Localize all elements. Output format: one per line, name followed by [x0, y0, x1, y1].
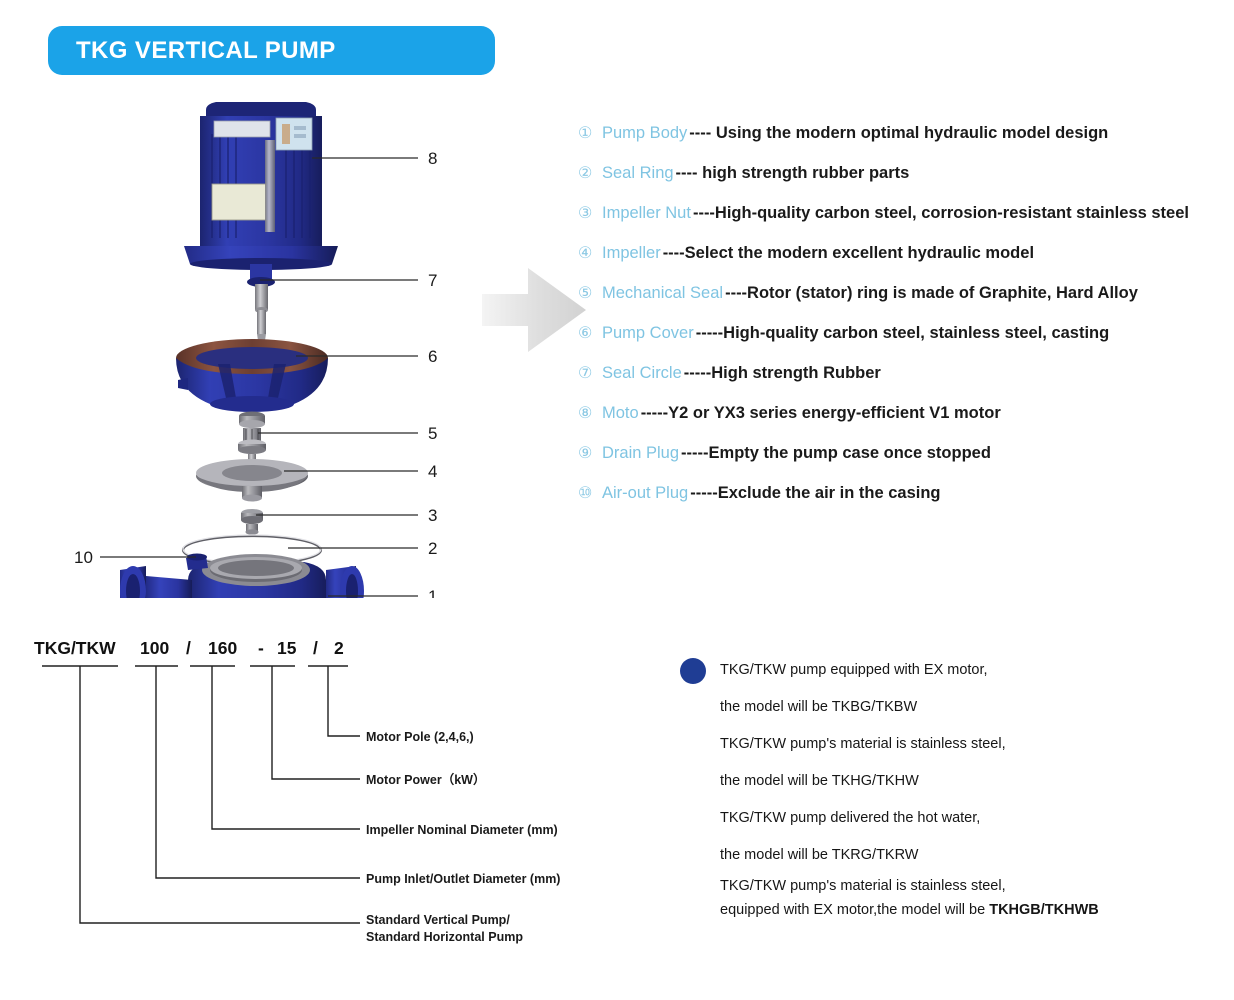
- legend-number-icon: ⑨: [578, 446, 602, 462]
- callout-4: 4: [428, 462, 437, 481]
- transition-arrow: [482, 258, 588, 362]
- note-text: equipped with EX motor,the model will be: [720, 902, 989, 918]
- legend-item-drain-plug: ⑨ Drain Plug -----Empty the pump case on…: [578, 444, 1228, 484]
- legend-part-name: Mechanical Seal: [602, 284, 723, 303]
- legend-part-name: Impeller Nut: [602, 204, 691, 223]
- legend-item-air-out-plug: ⑩ Air-out Plug -----Exclude the air in t…: [578, 484, 1228, 524]
- legend-number-icon: ④: [578, 246, 602, 262]
- legend-number-icon: ⑧: [578, 406, 602, 422]
- code-series: TKG/TKW: [34, 638, 116, 658]
- legend-number-icon: ⑥: [578, 326, 602, 342]
- part-motor: [184, 102, 338, 270]
- part-pump-cover: [176, 339, 328, 412]
- legend-number-icon: ①: [578, 126, 602, 142]
- code-inlet-size: 100: [140, 638, 169, 658]
- legend-number-icon: ②: [578, 166, 602, 182]
- legend-number-icon: ⑤: [578, 286, 602, 302]
- note-line: TKG/TKW pump's material is stainless ste…: [720, 726, 1220, 763]
- legend-item-seal-ring: ② Seal Ring ---- high strength rubber pa…: [578, 164, 1228, 204]
- note-line: TKG/TKW pump delivered the hot water,: [720, 800, 1220, 837]
- bullet-dot-icon: [680, 658, 706, 684]
- part-air-out-plug: [186, 554, 208, 571]
- legend-part-name: Moto: [602, 404, 639, 423]
- legend-item-moto: ⑧ Moto -----Y2 or YX3 series energy-effi…: [578, 404, 1228, 444]
- model-code: TKG/TKW 100 / 160 - 15 / 2: [34, 638, 344, 658]
- legend-part-desc: -----High strength Rubber: [684, 364, 881, 383]
- legend-item-pump-body: ① Pump Body ---- Using the modern optima…: [578, 124, 1228, 164]
- note-line-with-model: equipped with EX motor,the model will be…: [720, 898, 1220, 922]
- part-shaft-seal-circle: [247, 264, 275, 350]
- page-title: TKG VERTICAL PUMP: [76, 37, 336, 65]
- label-motor-pole: Motor Pole (2,4,6,): [366, 730, 474, 744]
- part-impeller: [196, 454, 308, 502]
- label-inlet-outlet: Pump Inlet/Outlet Diameter (mm): [366, 872, 560, 886]
- legend-part-desc: ----High-quality carbon steel, corrosion…: [693, 204, 1189, 223]
- legend-part-desc: ----Select the modern excellent hydrauli…: [663, 244, 1034, 263]
- page-title-banner: TKG VERTICAL PUMP: [48, 26, 495, 75]
- legend-part-desc: ---- high strength rubber parts: [676, 164, 910, 183]
- legend-item-pump-cover: ⑥ Pump Cover -----High-quality carbon st…: [578, 324, 1228, 364]
- model-variant-notes: TKG/TKW pump equipped with EX motor, the…: [680, 652, 1220, 922]
- legend-item-impeller: ④ Impeller ----Select the modern excelle…: [578, 244, 1228, 284]
- label-pump-type-line2: Standard Horizontal Pump: [366, 930, 523, 944]
- code-motor-power: 15: [277, 638, 297, 658]
- legend-part-desc: ----Rotor (stator) ring is made of Graph…: [725, 284, 1138, 303]
- callout-3: 3: [428, 506, 437, 525]
- note-line: the model will be TKBG/TKBW: [720, 689, 1220, 726]
- legend-number-icon: ⑦: [578, 366, 602, 382]
- legend-part-name: Pump Cover: [602, 324, 694, 343]
- legend-item-seal-circle: ⑦ Seal Circle -----High strength Rubber: [578, 364, 1228, 404]
- code-impeller-dia: 160: [208, 638, 237, 658]
- callout-7: 7: [428, 271, 437, 290]
- code-sep-3: /: [313, 638, 318, 658]
- callout-5: 5: [428, 424, 437, 443]
- callout-8: 8: [428, 149, 437, 168]
- model-nomenclature: TKG/TKW 100 / 160 - 15 / 2: [30, 636, 630, 966]
- exploded-pump-figure: 8 7 6 5 4 3 2 1 10 9: [60, 88, 480, 598]
- note-line: TKG/TKW pump's material is stainless ste…: [720, 874, 1220, 898]
- label-pump-type-line1: Standard Vertical Pump/: [366, 913, 510, 927]
- code-leader-lines: [80, 666, 360, 923]
- legend-part-name: Seal Circle: [602, 364, 682, 383]
- legend-part-name: Drain Plug: [602, 444, 679, 463]
- legend-part-name: Impeller: [602, 244, 661, 263]
- callout-6: 6: [428, 347, 437, 366]
- legend-part-desc: -----High-quality carbon steel, stainles…: [696, 324, 1110, 343]
- part-impeller-nut: [241, 509, 263, 535]
- label-motor-power: Motor Power（kW）: [366, 772, 485, 787]
- legend-number-icon: ③: [578, 206, 602, 222]
- callout-1: 1: [428, 587, 437, 598]
- note-line: the model will be TKRG/TKRW: [720, 837, 1220, 874]
- legend-part-desc: -----Empty the pump case once stopped: [681, 444, 991, 463]
- legend-part-name: Air-out Plug: [602, 484, 688, 503]
- nomenclature-labels: Motor Pole (2,4,6,) Motor Power（kW） Impe…: [366, 730, 560, 944]
- legend-number-icon: ⑩: [578, 486, 602, 502]
- code-motor-pole: 2: [334, 638, 344, 658]
- code-sep-1: /: [186, 638, 191, 658]
- parts-legend: ① Pump Body ---- Using the modern optima…: [578, 124, 1228, 524]
- legend-part-desc: -----Y2 or YX3 series energy-efficient V…: [641, 404, 1001, 423]
- note-line: the model will be TKHG/TKHW: [720, 763, 1220, 800]
- note-model-code: TKHGB/TKHWB: [989, 902, 1099, 918]
- note-line: TKG/TKW pump equipped with EX motor,: [720, 652, 1220, 689]
- callout-10: 10: [74, 548, 93, 567]
- part-pump-body: [120, 554, 364, 599]
- legend-part-name: Seal Ring: [602, 164, 674, 183]
- legend-item-mechanical-seal: ⑤ Mechanical Seal ----Rotor (stator) rin…: [578, 284, 1228, 324]
- legend-part-desc: ---- Using the modern optimal hydraulic …: [689, 124, 1108, 143]
- legend-part-name: Pump Body: [602, 124, 687, 143]
- legend-part-desc: -----Exclude the air in the casing: [690, 484, 940, 503]
- label-impeller-diameter: Impeller Nominal Diameter (mm): [366, 823, 558, 837]
- callout-2: 2: [428, 539, 437, 558]
- legend-item-impeller-nut: ③ Impeller Nut ----High-quality carbon s…: [578, 204, 1228, 244]
- code-sep-2: -: [258, 638, 264, 658]
